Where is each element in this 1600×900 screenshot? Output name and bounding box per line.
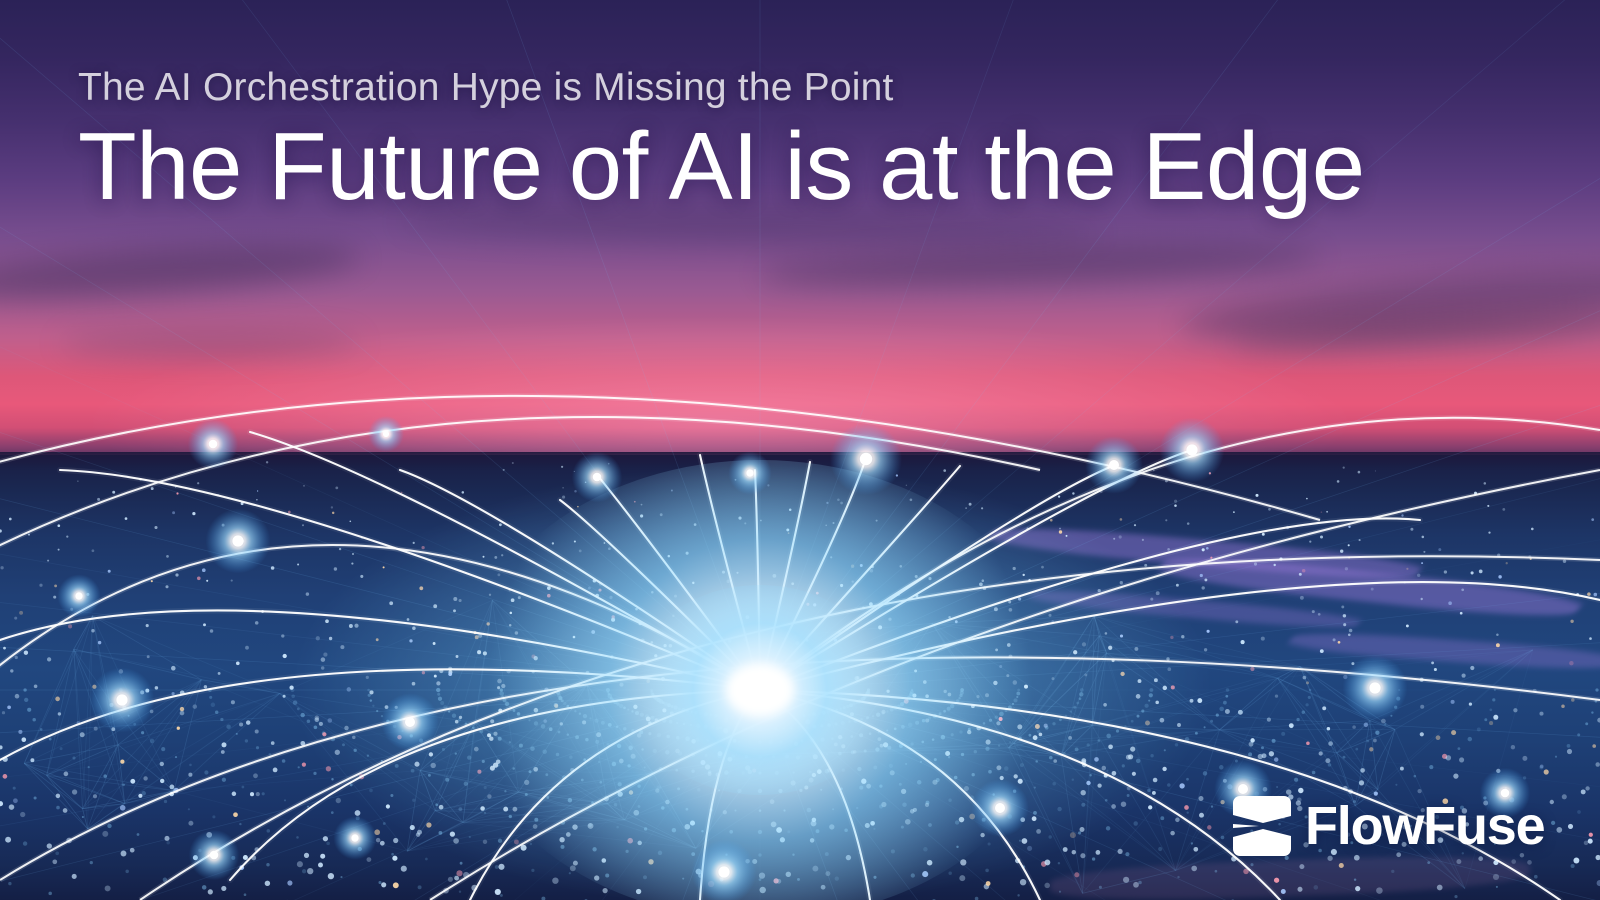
flowfuse-logo-icon	[1233, 796, 1291, 856]
flowfuse-wordmark: FlowFuse	[1305, 799, 1544, 853]
title-block: The AI Orchestration Hype is Missing the…	[78, 66, 1498, 218]
hero-banner: The AI Orchestration Hype is Missing the…	[0, 0, 1600, 900]
kicker-text: The AI Orchestration Hype is Missing the…	[78, 66, 1498, 111]
page-title: The Future of AI is at the Edge	[78, 117, 1498, 218]
flowfuse-logo[interactable]: FlowFuse	[1233, 796, 1544, 856]
